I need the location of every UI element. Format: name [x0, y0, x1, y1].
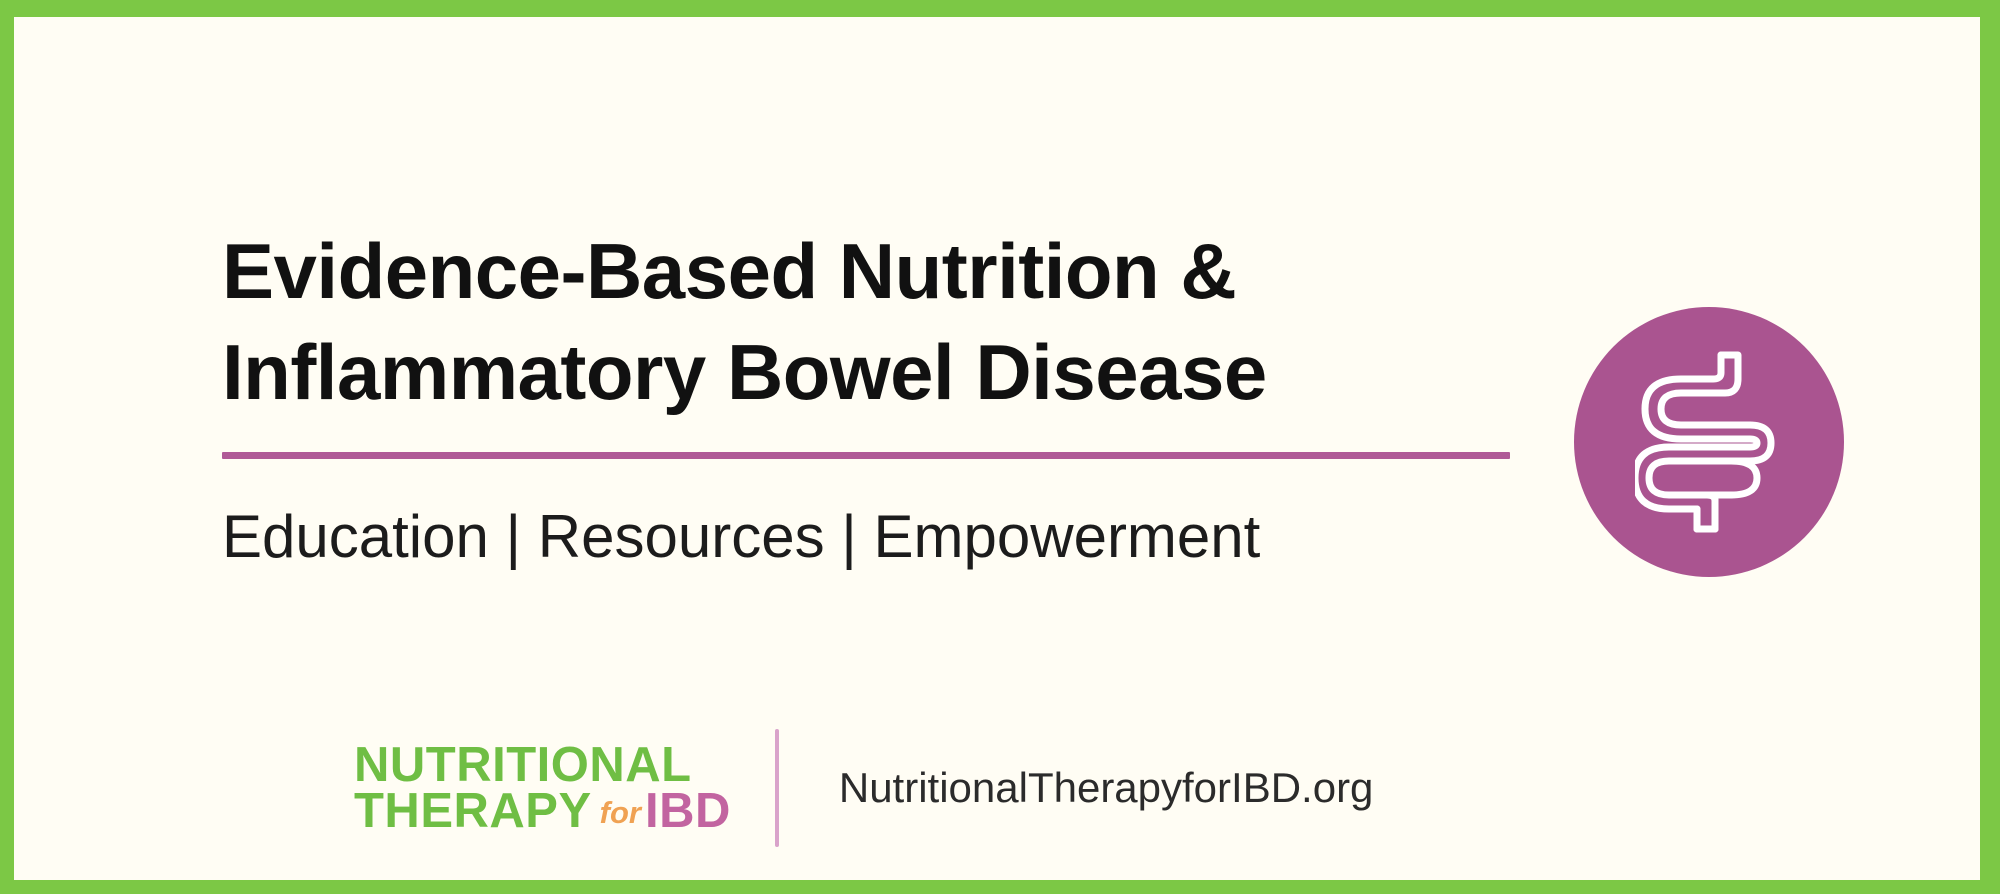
logo-word-for: for — [592, 795, 645, 830]
intestine-icon — [1635, 349, 1783, 535]
logo-line-2: THERAPYforIBD — [354, 788, 731, 834]
logo-line-1: NUTRITIONAL — [354, 742, 731, 788]
headline-block: Evidence-Based Nutrition & Inflammatory … — [222, 221, 1512, 574]
page-title: Evidence-Based Nutrition & Inflammatory … — [222, 221, 1512, 424]
page-title-line-1: Evidence-Based Nutrition & — [222, 221, 1512, 322]
nutritional-therapy-logo: NUTRITIONAL THERAPYforIBD — [354, 742, 731, 834]
banner-card: Evidence-Based Nutrition & Inflammatory … — [14, 17, 1980, 880]
intestine-badge — [1574, 307, 1844, 577]
promo-banner: Evidence-Based Nutrition & Inflammatory … — [0, 0, 2000, 894]
footer-brand-lockup: NUTRITIONAL THERAPYforIBD NutritionalThe… — [354, 729, 1373, 847]
website-url: NutritionalTherapyforIBD.org — [839, 764, 1374, 812]
logo-word-ibd: IBD — [645, 784, 731, 838]
tagline: Education | Resources | Empowerment — [222, 499, 1512, 574]
footer-divider — [775, 729, 779, 847]
logo-word-therapy: THERAPY — [354, 784, 592, 838]
title-divider — [222, 452, 1510, 459]
page-title-line-2: Inflammatory Bowel Disease — [222, 322, 1512, 423]
